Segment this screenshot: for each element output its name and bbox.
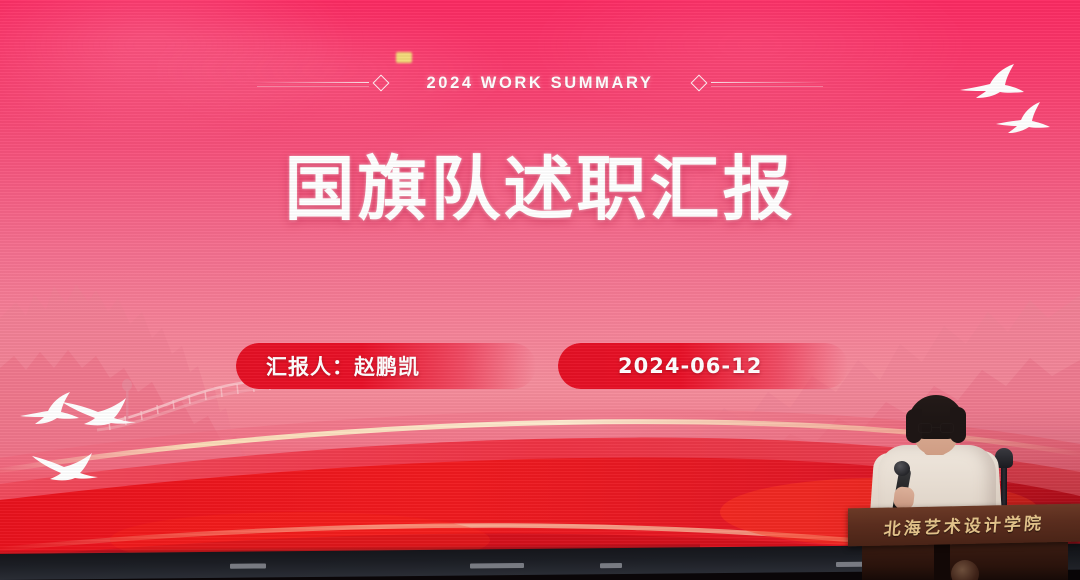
presenter-badge-label: 汇报人：赵鹏凯	[266, 351, 420, 381]
cloud-wisp	[140, 10, 520, 130]
glasses-icon	[918, 423, 954, 433]
decor-rule-left	[251, 72, 401, 94]
podium-nameplate: 北海艺术设计学院	[852, 507, 1076, 542]
podium: 北海艺术设计学院	[848, 506, 1080, 580]
slide-meta-badges: 汇报人：赵鹏凯 2024-06-12	[236, 343, 848, 389]
stage-foreground: 北海艺术设计学院	[850, 350, 1080, 580]
podium-emblem	[951, 560, 979, 580]
decor-rule-right	[679, 72, 829, 94]
photo-scene: 2024 WORK SUMMARY 国旗队述职汇报 汇报人：赵鹏凯 2024-0…	[0, 0, 1080, 580]
diamond-icon	[691, 75, 708, 92]
presenter-badge: 汇报人：赵鹏凯	[236, 343, 536, 389]
gold-reflection-fleck	[396, 52, 412, 63]
podium-leg	[934, 542, 950, 580]
dove-icon	[30, 438, 100, 482]
podium-institution-name: 北海艺术设计学院	[883, 508, 1045, 539]
diamond-icon	[372, 75, 389, 92]
eyebrow-text: 2024 WORK SUMMARY	[401, 74, 680, 93]
date-badge-label: 2024-06-12	[618, 354, 762, 378]
slide-eyebrow: 2024 WORK SUMMARY	[0, 72, 1080, 94]
podium-body	[862, 542, 1068, 580]
dove-icon	[60, 380, 138, 428]
slide-title: 国旗队述职汇报	[0, 133, 1080, 234]
date-badge: 2024-06-12	[558, 343, 848, 389]
